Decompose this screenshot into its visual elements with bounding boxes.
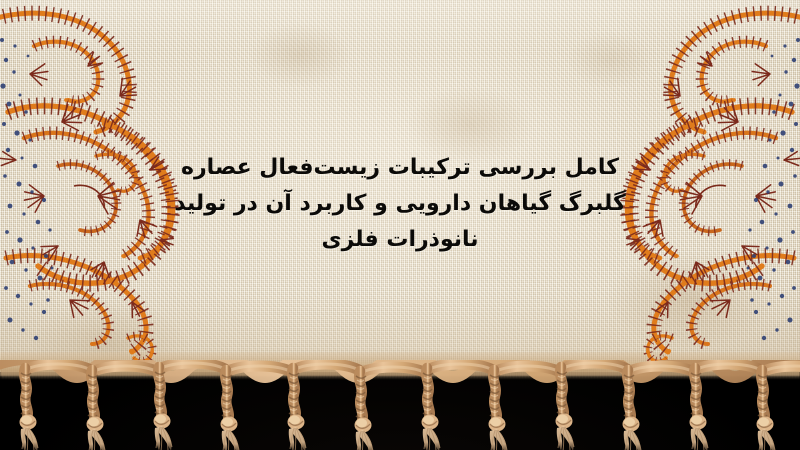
slide-title: کامل بررسی ترکیبات زیست‌فعال عصاره گلبرگ… bbox=[0, 150, 800, 258]
title-line-3: نانوذرات فلزی bbox=[0, 222, 800, 258]
title-line-2: گلبرگ گیاهان دارویی و کاربرد آن در تولید bbox=[0, 186, 800, 222]
tassel-fringe bbox=[0, 360, 800, 450]
slide-canvas: کامل بررسی ترکیبات زیست‌فعال عصاره گلبرگ… bbox=[0, 0, 800, 450]
title-line-1: کامل بررسی ترکیبات زیست‌فعال عصاره bbox=[0, 150, 800, 186]
tassel-group bbox=[20, 363, 800, 450]
